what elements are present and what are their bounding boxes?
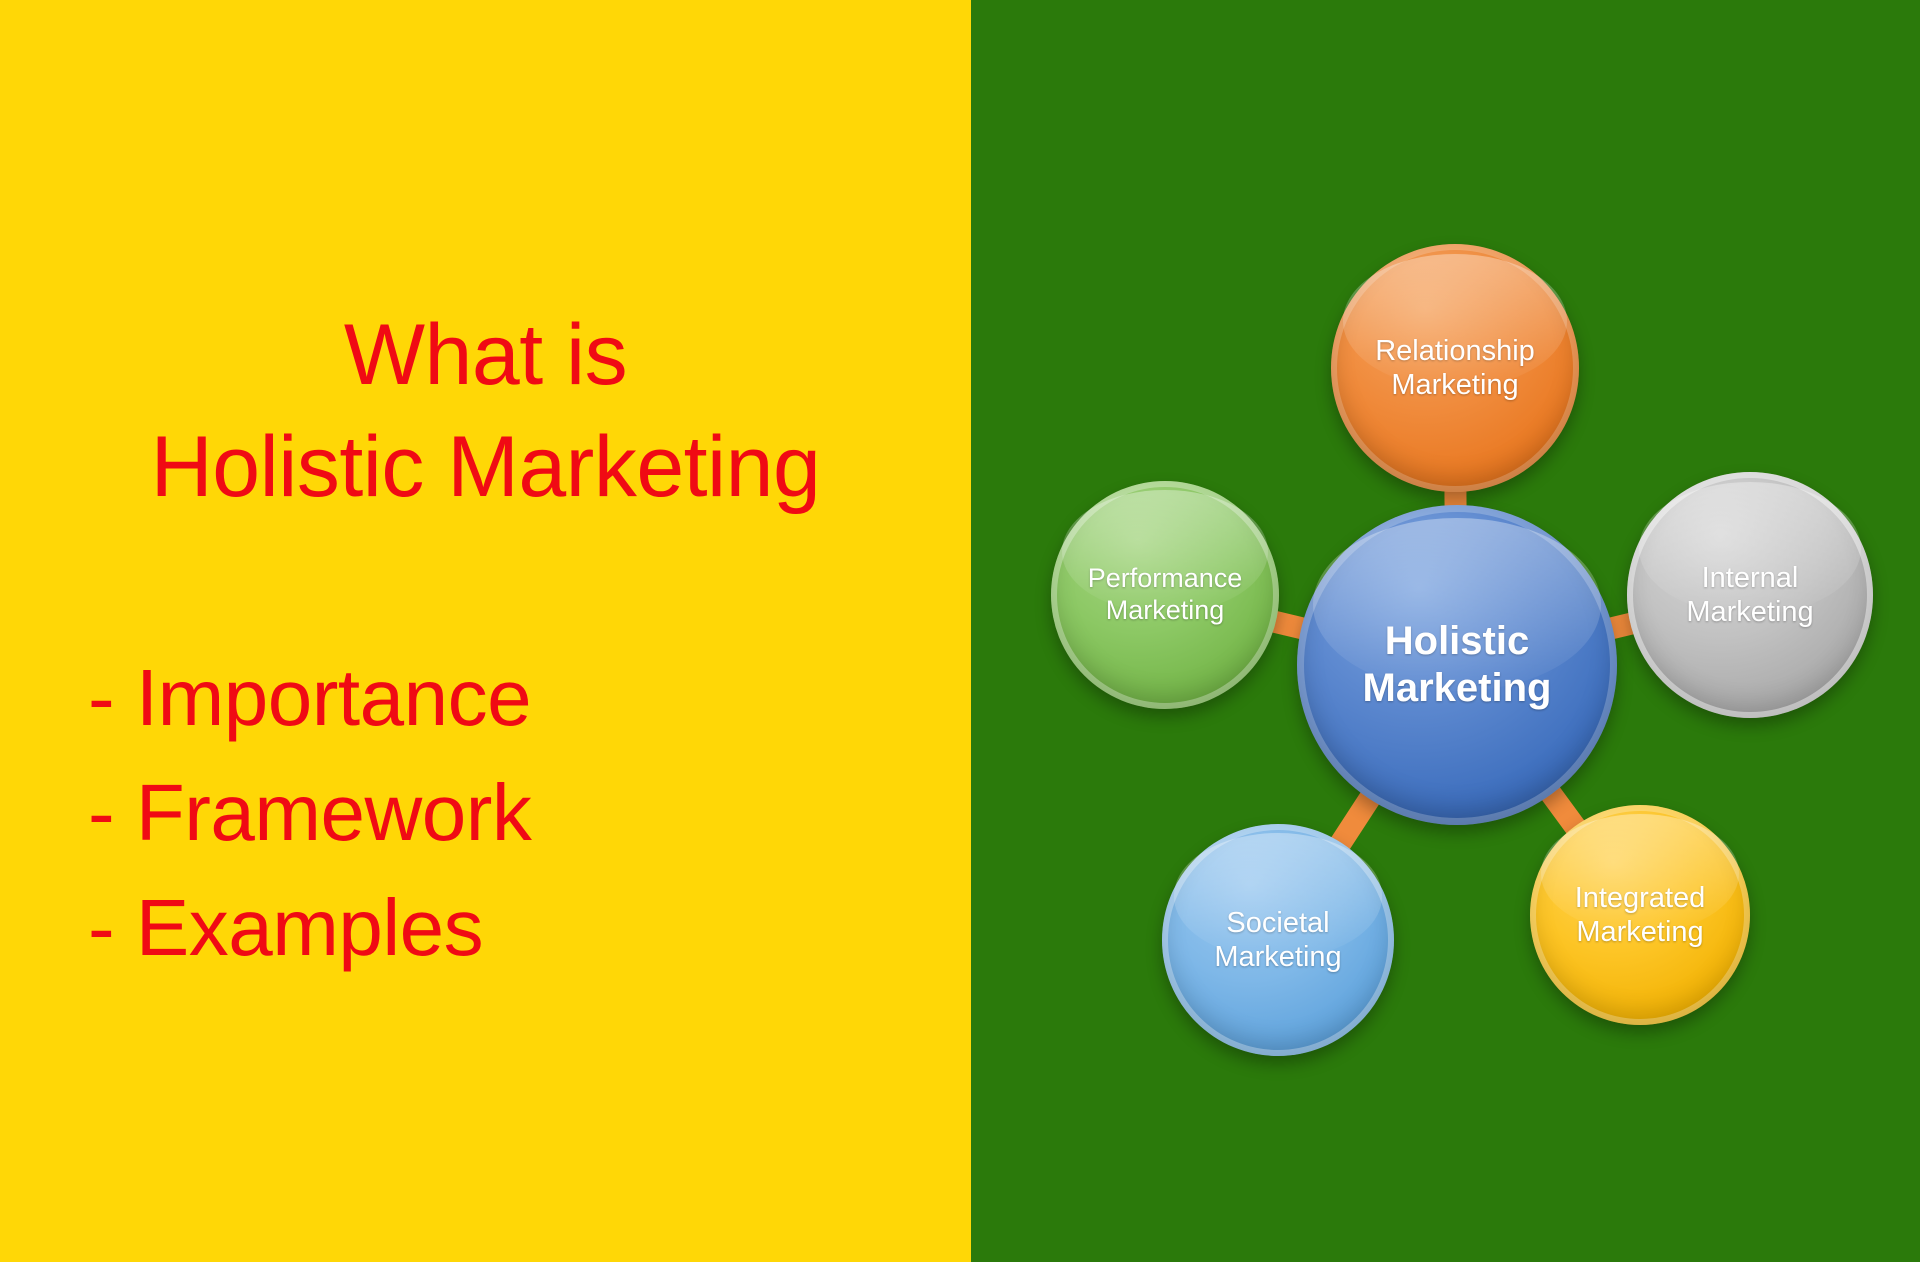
node-integrated-line2: Marketing xyxy=(1576,916,1703,948)
list-item: - Examples xyxy=(88,870,948,985)
node-internal-line1: Internal xyxy=(1702,562,1799,594)
bullet-list: - Importance - Framework - Examples xyxy=(88,640,948,986)
left-panel: What is Holistic Marketing - Importance … xyxy=(0,0,971,1262)
node-holistic-line1: Holistic xyxy=(1385,619,1529,663)
node-performance-line1: Performance xyxy=(1088,563,1243,593)
node-performance-line2: Marketing xyxy=(1106,595,1225,625)
node-internal-line2: Marketing xyxy=(1686,596,1813,628)
node-integrated-line1: Integrated xyxy=(1575,882,1706,914)
node-performance-marketing[interactable]: Performance Marketing xyxy=(1051,481,1279,709)
list-item: - Framework xyxy=(88,755,948,870)
right-panel: Relationship Marketing Internal Marketin… xyxy=(971,0,1920,1262)
node-internal-marketing[interactable]: Internal Marketing xyxy=(1627,472,1873,718)
page-title: What is Holistic Marketing xyxy=(0,300,971,524)
node-integrated-label: Integrated Marketing xyxy=(1575,881,1706,949)
node-integrated-marketing[interactable]: Integrated Marketing xyxy=(1530,805,1750,1025)
list-item: - Importance xyxy=(88,640,948,755)
node-societal-line1: Societal xyxy=(1226,907,1329,939)
node-holistic-line2: Marketing xyxy=(1363,666,1552,710)
node-relationship-line2: Marketing xyxy=(1391,369,1518,401)
node-relationship-line1: Relationship xyxy=(1375,335,1535,367)
node-performance-label: Performance Marketing xyxy=(1088,563,1243,627)
node-holistic-marketing[interactable]: Holistic Marketing xyxy=(1297,505,1617,825)
node-holistic-label: Holistic Marketing xyxy=(1363,618,1552,712)
node-societal-line2: Marketing xyxy=(1214,941,1341,973)
node-internal-label: Internal Marketing xyxy=(1686,561,1813,629)
holistic-marketing-diagram: Relationship Marketing Internal Marketin… xyxy=(971,0,1920,1262)
node-societal-marketing[interactable]: Societal Marketing xyxy=(1162,824,1394,1056)
node-societal-label: Societal Marketing xyxy=(1214,906,1341,974)
slide-canvas: What is Holistic Marketing - Importance … xyxy=(0,0,1920,1262)
node-relationship-marketing[interactable]: Relationship Marketing xyxy=(1331,244,1579,492)
node-relationship-label: Relationship Marketing xyxy=(1375,334,1535,402)
title-line-1: What is xyxy=(0,300,971,412)
title-line-2: Holistic Marketing xyxy=(0,412,971,524)
